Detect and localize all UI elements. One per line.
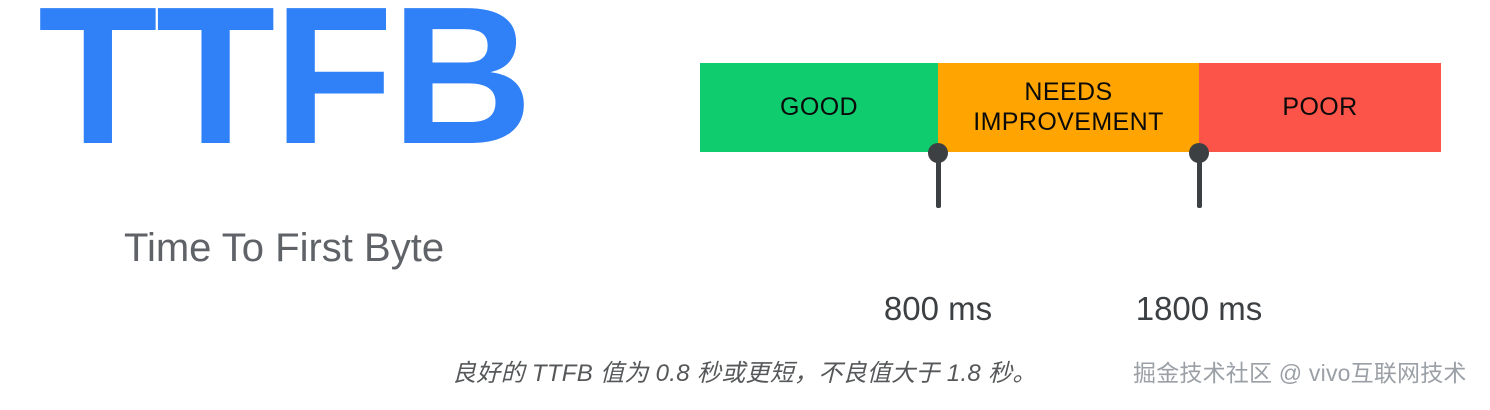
meter-segment-good: GOOD: [700, 63, 938, 152]
meter-segment-needs-improvement-label: NEEDS IMPROVEMENT: [973, 78, 1164, 137]
meter-segment-poor-label: POOR: [1282, 93, 1357, 123]
page-subtitle: Time To First Byte: [124, 228, 444, 268]
caption-row: 良好的 TTFB 值为 0.8 秒或更短，不良值大于 1.8 秒。 掘金技术社区…: [0, 358, 1490, 404]
threshold-dot-icon: [928, 143, 948, 163]
meter-segment-good-label: GOOD: [780, 93, 858, 123]
meter-segment-poor: POOR: [1199, 63, 1441, 152]
logo-block: TTFB Time To First Byte: [0, 0, 580, 300]
threshold-value-800ms: 800 ms: [884, 292, 992, 325]
watermark: 掘金技术社区 @ vivo互联网技术: [1133, 359, 1467, 389]
page-title: TTFB: [38, 0, 531, 174]
threshold-value-1800ms: 1800 ms: [1136, 292, 1263, 325]
ttfb-infographic: TTFB Time To First Byte GOOD NEEDS IMPRO…: [0, 0, 1490, 410]
meter-segment-needs-improvement: NEEDS IMPROVEMENT: [938, 63, 1199, 152]
threshold-dot-icon: [1189, 143, 1209, 163]
threshold-bar: GOOD NEEDS IMPROVEMENT POOR: [700, 63, 1441, 152]
caption-text: 良好的 TTFB 值为 0.8 秒或更短，不良值大于 1.8 秒。: [452, 358, 1037, 389]
threshold-meter: GOOD NEEDS IMPROVEMENT POOR 800 ms 1800 …: [700, 63, 1441, 263]
